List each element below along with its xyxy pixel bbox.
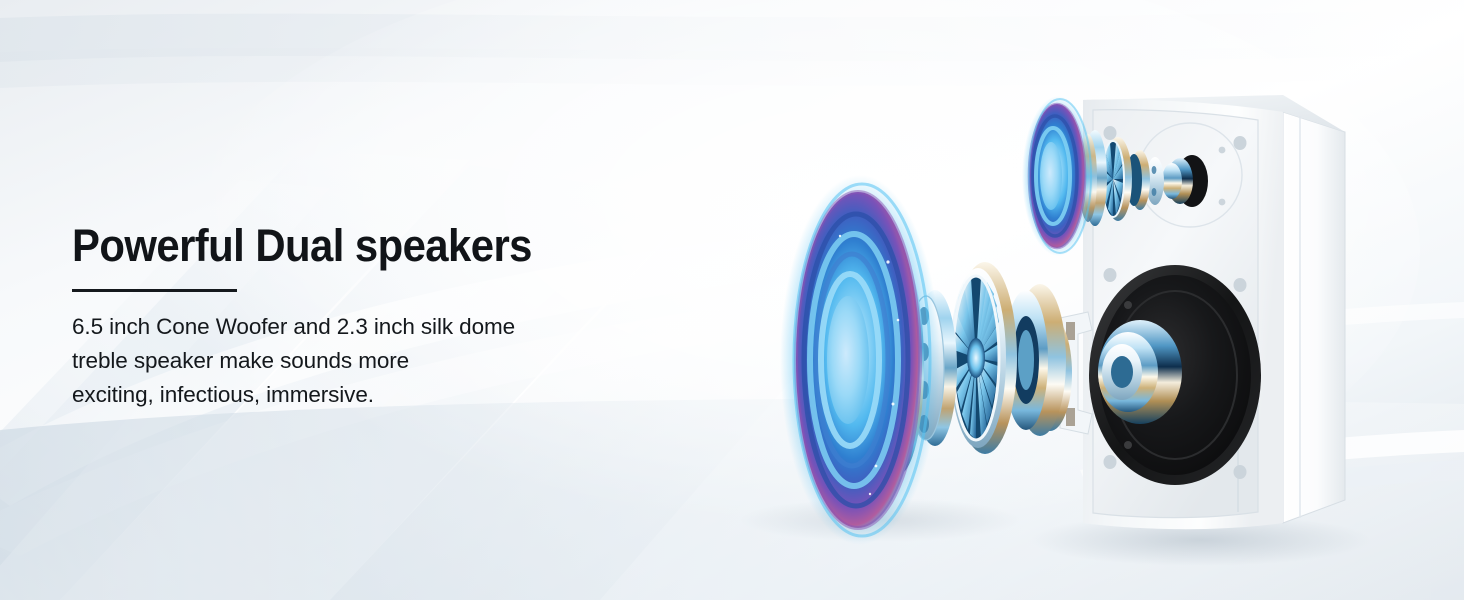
product-feature-banner: Powerful Dual speakers 6.5 inch Cone Woo… [0,0,1464,600]
title-divider [72,289,237,292]
cabinet-woofer-cone [1089,265,1261,485]
body-line-1: 6.5 inch Cone Woofer and 2.3 inch silk d… [72,310,772,344]
copy-block: Powerful Dual speakers 6.5 inch Cone Woo… [72,222,772,412]
body-line-3: exciting, infectious, immersive. [72,378,772,412]
woofer-fan-blade-ring [950,262,1017,454]
page-title: Powerful Dual speakers [72,222,723,270]
body-line-2: treble speaker make sounds more [72,344,772,378]
body-copy: 6.5 inch Cone Woofer and 2.3 inch silk d… [72,310,772,412]
woofer-glowing-cone [780,175,940,545]
